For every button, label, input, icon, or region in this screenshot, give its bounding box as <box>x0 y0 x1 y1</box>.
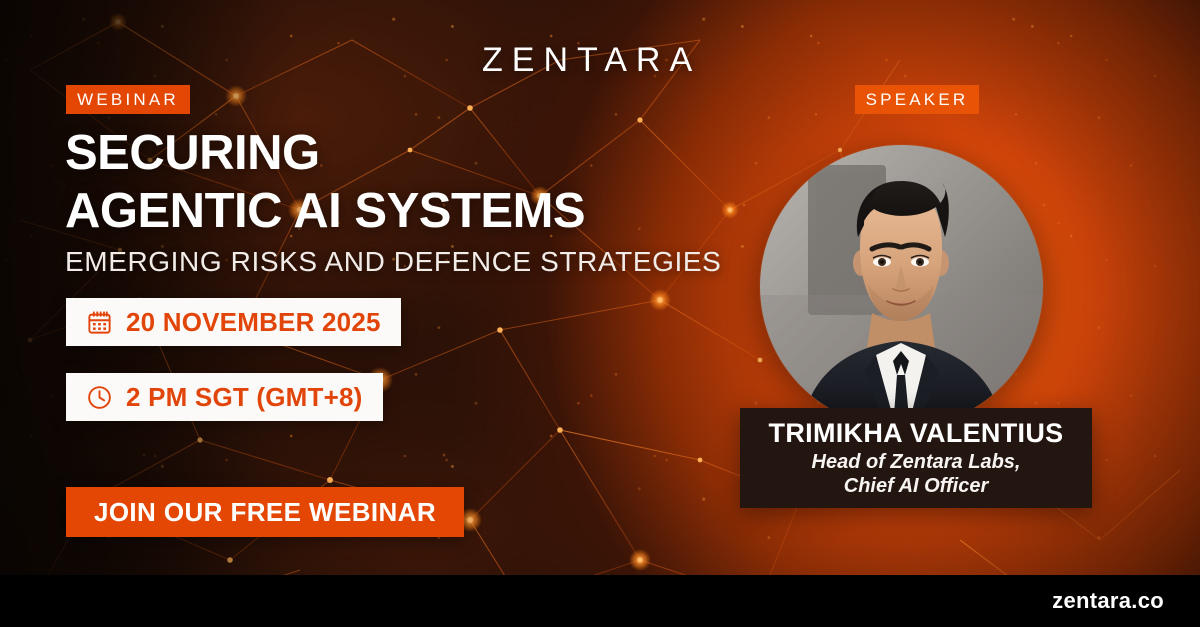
webinar-promo-banner: ZENTARA WEBINAR SPEAKER SECURING AGENTIC… <box>0 0 1200 627</box>
footer-bar: zentara.co <box>0 575 1200 627</box>
speaker-title-line-2: Chief AI Officer <box>844 475 988 497</box>
speaker-name: TRIMIKHA VALENTIUS <box>769 418 1064 448</box>
date-pill: 20 NOVEMBER 2025 <box>66 298 401 346</box>
website-url[interactable]: zentara.co <box>1052 588 1164 614</box>
page-title: SECURING AGENTIC AI SYSTEMS <box>65 124 715 240</box>
headline-line-2: AGENTIC AI SYSTEMS <box>65 182 715 240</box>
speaker-title: Head of Zentara Labs, Chief AI Officer <box>812 450 1021 498</box>
time-pill: 2 PM SGT (GMT+8) <box>66 373 383 421</box>
webinar-badge: WEBINAR <box>66 85 190 114</box>
page-subtitle: EMERGING RISKS AND DEFENCE STRATEGIES <box>65 245 745 279</box>
calendar-icon <box>86 309 113 336</box>
speaker-badge: SPEAKER <box>855 85 979 114</box>
speaker-title-line-1: Head of Zentara Labs, <box>812 451 1021 473</box>
time-value: 2 PM SGT (GMT+8) <box>126 382 363 413</box>
speaker-portrait <box>760 145 1043 428</box>
speaker-portrait-image <box>760 145 1043 428</box>
date-value: 20 NOVEMBER 2025 <box>126 307 381 338</box>
join-webinar-button[interactable]: JOIN OUR FREE WEBINAR <box>66 487 464 537</box>
headline-line-1: SECURING <box>65 126 320 180</box>
clock-icon <box>86 384 113 411</box>
zentara-logo: ZENTARA <box>482 41 701 80</box>
speaker-info-panel: TRIMIKHA VALENTIUS Head of Zentara Labs,… <box>740 408 1092 508</box>
